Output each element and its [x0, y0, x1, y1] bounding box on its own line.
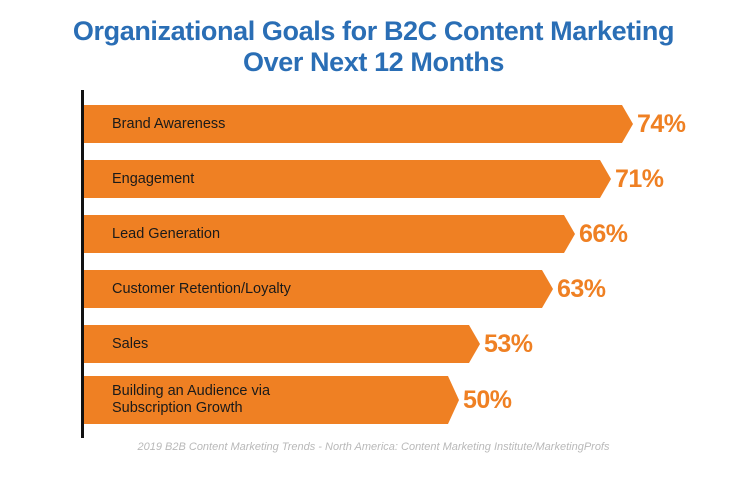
bar-arrow-tip-icon: [469, 325, 480, 363]
bar-row[interactable]: Engagement71%: [84, 160, 611, 198]
title-line-1: Organizational Goals for B2C Content Mar…: [0, 16, 747, 47]
bar-arrow-tip-icon: [448, 376, 459, 424]
bar-value-label: 66%: [579, 215, 628, 253]
bar-arrow-tip-icon: [622, 105, 633, 143]
bar-row[interactable]: Sales53%: [84, 325, 480, 363]
bar-fill: [84, 376, 448, 424]
bar-arrow-tip-icon: [600, 160, 611, 198]
source-attribution: 2019 B2B Content Marketing Trends - Nort…: [0, 441, 747, 453]
bar-value-label: 63%: [557, 270, 606, 308]
bar-fill: [84, 160, 600, 198]
infographic-chart: Organizational Goals for B2C Content Mar…: [0, 0, 747, 481]
bar-row[interactable]: Brand Awareness74%: [84, 105, 633, 143]
bar-fill: [84, 270, 542, 308]
bar-value-label: 53%: [484, 325, 533, 363]
bar-value-label: 74%: [637, 105, 686, 143]
bar-arrow-tip-icon: [564, 215, 575, 253]
bar-series: Brand Awareness74%Engagement71%Lead Gene…: [0, 88, 747, 440]
page-title: Organizational Goals for B2C Content Mar…: [0, 16, 747, 78]
title-line-2: Over Next 12 Months: [0, 47, 747, 78]
plot-area: Brand Awareness74%Engagement71%Lead Gene…: [0, 88, 747, 440]
bar-row[interactable]: Lead Generation66%: [84, 215, 575, 253]
bar-value-label: 50%: [463, 376, 512, 424]
bar-value-label: 71%: [615, 160, 664, 198]
bar-fill: [84, 325, 469, 363]
bar-arrow-tip-icon: [542, 270, 553, 308]
bar-row[interactable]: Customer Retention/Loyalty63%: [84, 270, 553, 308]
bar-row[interactable]: Building an Audience viaSubscription Gro…: [84, 376, 459, 424]
bar-fill: [84, 215, 564, 253]
bar-fill: [84, 105, 622, 143]
